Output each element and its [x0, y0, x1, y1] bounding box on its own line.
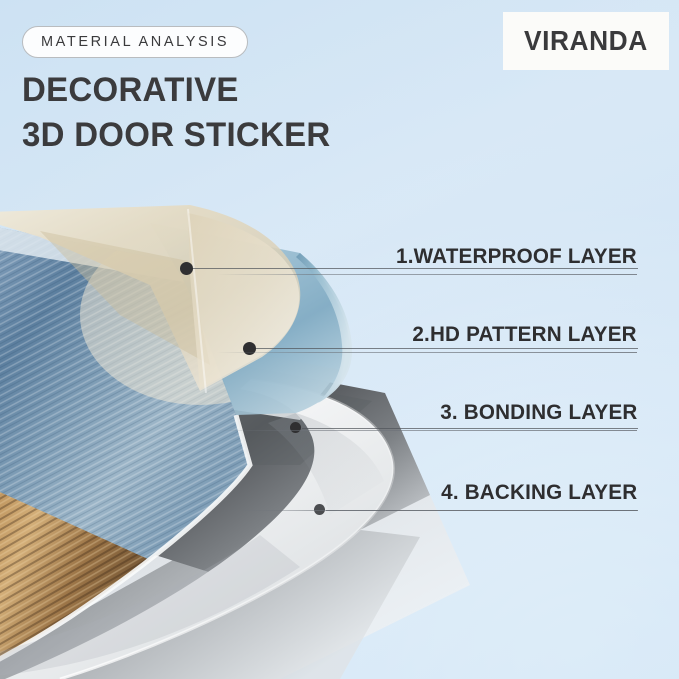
callout-bonding-layer-label: 3. BONDING LAYER — [440, 400, 637, 428]
callout-bonding-layer: 3. BONDING LAYER — [217, 400, 637, 431]
material-analysis-infographic: MATERIAL ANALYSIS DECORATIVE 3D DOOR STI… — [0, 0, 679, 679]
callout-hd-pattern-layer: 2.HD PATTERN LAYER — [217, 322, 637, 353]
callout-rule-hd-pattern — [217, 352, 637, 353]
callout-rule-backing — [217, 510, 637, 511]
callout-waterproof-layer: 1.WATERPROOF LAYER — [217, 244, 637, 275]
callout-waterproof-layer-label: 1.WATERPROOF LAYER — [396, 244, 637, 272]
callout-rule-waterproof — [217, 274, 637, 275]
layer-callouts: 1.WATERPROOF LAYER 2.HD PATTERN LAYER 3.… — [0, 0, 679, 679]
callout-rule-bonding — [217, 430, 637, 431]
callout-backing-layer-label: 4. BACKING LAYER — [441, 480, 637, 508]
callout-backing-layer: 4. BACKING LAYER — [217, 480, 637, 511]
callout-hd-pattern-layer-label: 2.HD PATTERN LAYER — [413, 322, 637, 350]
